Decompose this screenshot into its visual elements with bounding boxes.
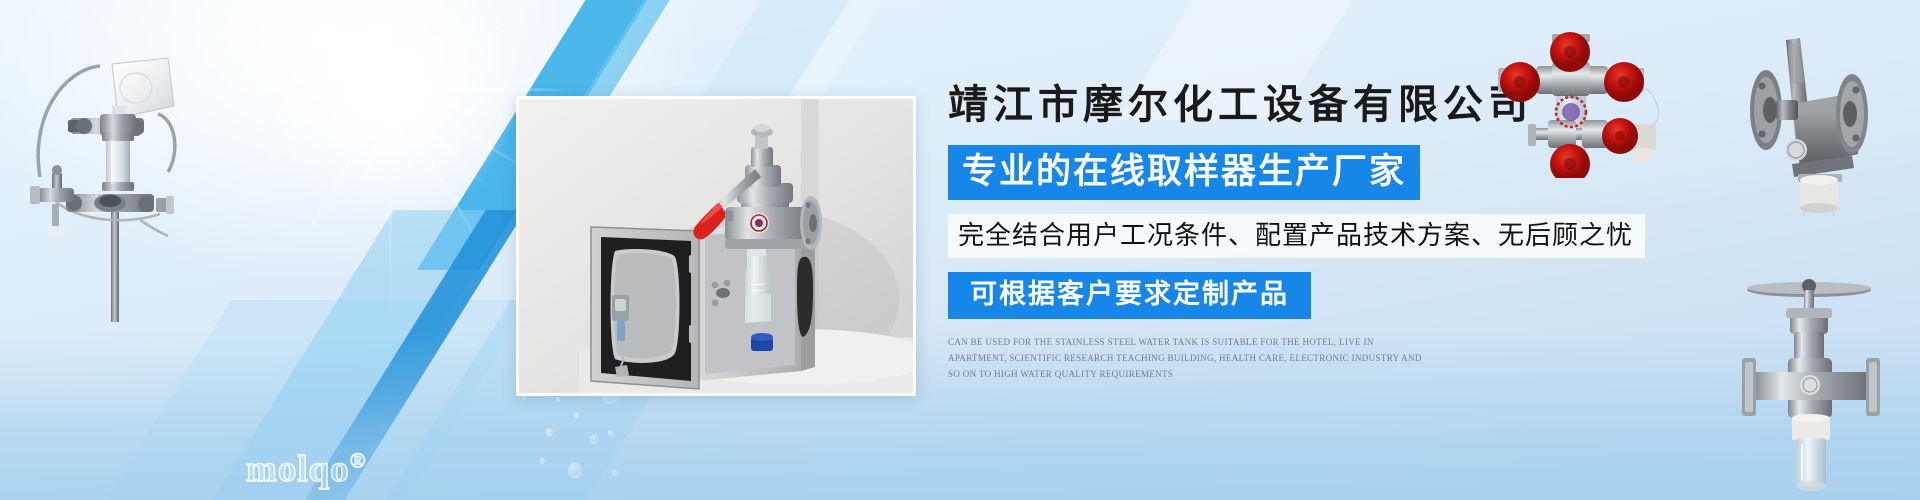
- svg-text:molqo: molqo: [1565, 95, 1578, 100]
- english-description: CAN BE USED FOR THE STAINLESS STEEL WATE…: [948, 335, 1428, 382]
- product-right-lever-valve: [1700, 22, 1910, 217]
- registered-mark-icon: ®: [350, 449, 367, 473]
- product-center-photo: [516, 96, 916, 396]
- product-left-post-sampler: [8, 22, 203, 322]
- sub-headline: 完全结合用户工况条件、配置产品技术方案、无后顾之忧: [948, 214, 1645, 258]
- watermark-brand: molqo: [246, 449, 350, 490]
- promo-banner: 靖江市摩尔化工设备有限公司 专业的在线取样器生产厂家 完全结合用户工况条件、配置…: [0, 0, 1920, 500]
- headline-banner: 专业的在线取样器生产厂家: [948, 145, 1420, 200]
- tagline-banner: 可根据客户要求定制产品: [948, 272, 1311, 319]
- product-top-right-manifold: molqo: [1484, 28, 1674, 178]
- product-bottom-right-valve: [1712, 272, 1912, 494]
- brand-watermark: molqo®: [246, 448, 366, 491]
